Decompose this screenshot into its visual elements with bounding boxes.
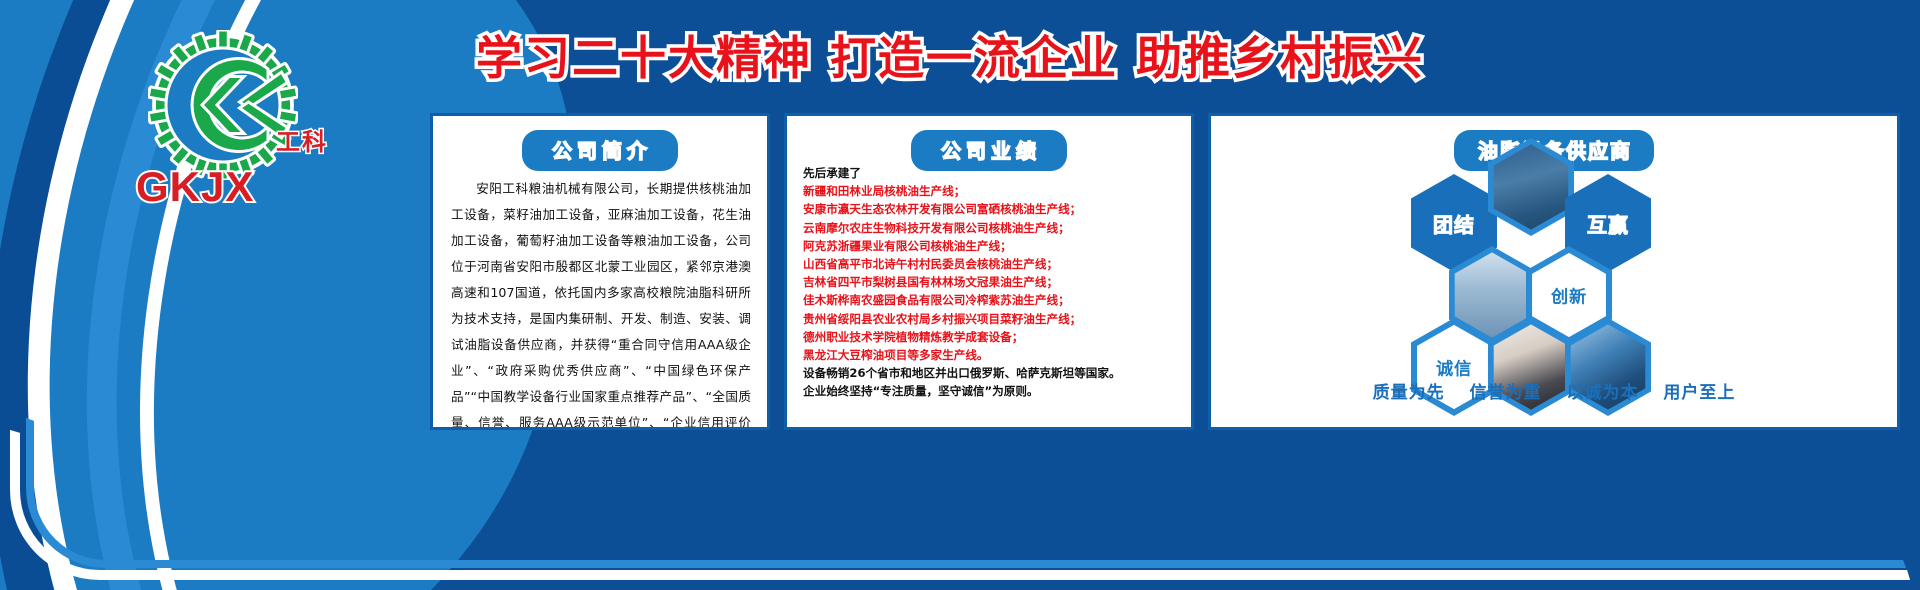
panel-company-intro: 公司简介 安阳工科粮油机械有限公司，长期提供核桃油加工设备，菜籽油加工设备，亚麻… [430,113,770,430]
achievement-item: 山西省高平市北诗午村村民委员会核桃油生产线； [803,255,1179,273]
slogan-part: 质量为先 [1373,383,1445,403]
slogan-part: 信誉为重 [1470,383,1542,403]
background-frame-blue [26,418,1906,568]
hex-label: 创新 [1551,283,1587,308]
panel-supplier-values: 油脂设备供应商 团结 互赢 创新 [1208,113,1900,430]
slogan-part: 用户至上 [1663,383,1735,403]
poster-canvas: 工科 GKJX 学习二十大精神 打造一流企业 助推乡村振兴 公司简介 安阳工科粮… [0,0,1920,590]
hex-inner: 创新 [1532,253,1606,337]
company-intro-body: 安阳工科粮油机械有限公司，长期提供核桃油加工设备，菜籽油加工设备，亚麻油加工设备… [451,176,751,430]
achievement-footer: 设备畅销26个省市和地区并出口俄罗斯、哈萨克斯坦等国家。 [803,364,1179,382]
achievement-item: 德州职业技术学院植物精炼教学成套设备； [803,328,1179,346]
achievement-lead: 先后承建了 [803,164,1179,182]
achievement-footer: 企业始终坚持“专注质量，坚守诚信”为原则。 [803,382,1179,400]
aircraft-carrier-photo [1494,144,1569,229]
achievement-item: 云南摩尔农庄生物科技开发有限公司核桃油生产线； [803,219,1179,237]
logo-english-text: GKJX [136,163,254,211]
hex-label: 团结 [1433,209,1475,238]
achievement-item: 佳木斯桦南农盛园食品有限公司冷榨紫苏油生产线； [803,291,1179,309]
achievement-item: 安康市瀛天生态农林开发有限公司富硒核桃油生产线； [803,200,1179,218]
achievement-item: 阿克苏浙疆果业有限公司核桃油生产线； [803,237,1179,255]
hex-label: 诚信 [1436,355,1472,380]
hex-label: 互赢 [1587,209,1629,238]
company-logo: 工科 GKJX [130,30,330,215]
panel-company-achievements: 公司业绩 先后承建了 新疆和田林业局核桃油生产线； 安康市瀛天生态农林开发有限公… [784,113,1194,430]
achievement-item: 吉林省四平市梨树县国有林林场文冠果油生产线； [803,273,1179,291]
gear-gk-logo-icon [148,30,298,180]
hexagon-cluster: 团结 互赢 创新 [1211,168,1897,368]
achievement-item: 黑龙江大豆榨油项目等多家生产线。 [803,346,1179,364]
achievement-item: 新疆和田林业局核桃油生产线； [803,182,1179,200]
supplier-slogan: 质量为先 信誉为重 以诚为本 用户至上 [1211,378,1897,403]
poster-headline: 学习二十大精神 打造一流企业 助推乡村振兴 [430,22,1470,88]
achievement-item: 贵州省绥阳县农业农村局乡村振兴项目菜籽油生产线； [803,310,1179,328]
logo-chinese-text: 工科 [276,122,328,157]
panel-title-company-intro: 公司简介 [522,130,678,171]
slogan-part: 以诚为本 [1566,383,1638,403]
achievement-list: 先后承建了 新疆和田林业局核桃油生产线； 安康市瀛天生态农林开发有限公司富硒核桃… [803,164,1179,401]
panel-row: 公司简介 安阳工科粮油机械有限公司，长期提供核桃油加工设备，菜籽油加工设备，亚麻… [430,113,1900,430]
